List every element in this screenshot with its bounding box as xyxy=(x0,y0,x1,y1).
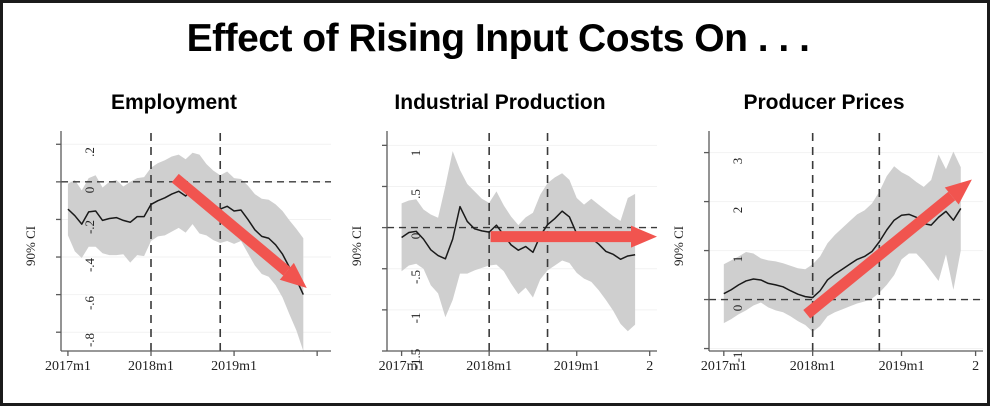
page-title: Effect of Rising Input Costs On . . . xyxy=(3,17,990,61)
confidence-band xyxy=(724,152,961,332)
x-tick-label: 2017m1 xyxy=(33,359,103,375)
y-tick-label: -.4 xyxy=(82,250,98,280)
y-tick-label: 1 xyxy=(408,138,424,168)
chart-industrial-production: 1.50-.5-1-1.590% CI2017m12018m12019m12 xyxy=(337,125,663,391)
y-tick-label: -.8 xyxy=(82,325,98,355)
panel-industrial-production: Industrial Production 1.50-.5-1-1.590% C… xyxy=(337,91,663,391)
x-tick-label: 2017m1 xyxy=(689,359,759,375)
x-tick-label: 2019m1 xyxy=(867,359,937,375)
y-axis-label: 90% CI xyxy=(23,226,39,266)
y-axis-label: 90% CI xyxy=(671,226,687,266)
y-tick-label: -.5 xyxy=(408,262,424,292)
panel-employment: Employment .20-.2-.4-.6-.890% CI2017m120… xyxy=(11,91,337,391)
y-tick-label: -.2 xyxy=(82,212,98,242)
x-tick-label: 2017m1 xyxy=(367,359,437,375)
panel-title-producer-prices: Producer Prices xyxy=(659,91,989,115)
plot-svg xyxy=(11,125,337,391)
x-tick-label: 2018m1 xyxy=(778,359,848,375)
x-tick-label: 2019m1 xyxy=(199,359,269,375)
y-tick-label: 0 xyxy=(82,175,98,205)
y-axis-label: 90% CI xyxy=(349,226,365,266)
chart-employment: .20-.2-.4-.6-.890% CI2017m12018m12019m1 xyxy=(11,125,337,391)
plot-svg xyxy=(337,125,663,391)
x-tick-label: 2 xyxy=(941,359,990,375)
x-tick-label: 2018m1 xyxy=(116,359,186,375)
panel-producer-prices: Producer Prices 3210-190% CI2017m12018m1… xyxy=(659,91,989,391)
y-tick-label: -1 xyxy=(408,303,424,333)
chart-producer-prices: 3210-190% CI2017m12018m12019m12 xyxy=(659,125,989,391)
y-tick-label: 0 xyxy=(730,293,746,323)
arrow-head xyxy=(631,226,657,248)
slide-frame: Effect of Rising Input Costs On . . . Em… xyxy=(0,0,990,406)
y-tick-label: -.6 xyxy=(82,288,98,318)
y-tick-label: 1 xyxy=(730,244,746,274)
y-tick-label: .2 xyxy=(82,137,98,167)
panel-title-industrial-production: Industrial Production xyxy=(337,91,663,115)
y-tick-label: .5 xyxy=(408,179,424,209)
panel-title-employment: Employment xyxy=(11,91,337,115)
y-tick-label: 0 xyxy=(408,221,424,251)
y-tick-label: 3 xyxy=(730,146,746,176)
x-tick-label: 2018m1 xyxy=(454,359,524,375)
x-tick-label: 2019m1 xyxy=(542,359,612,375)
plot-svg xyxy=(659,125,989,391)
y-tick-label: 2 xyxy=(730,195,746,225)
